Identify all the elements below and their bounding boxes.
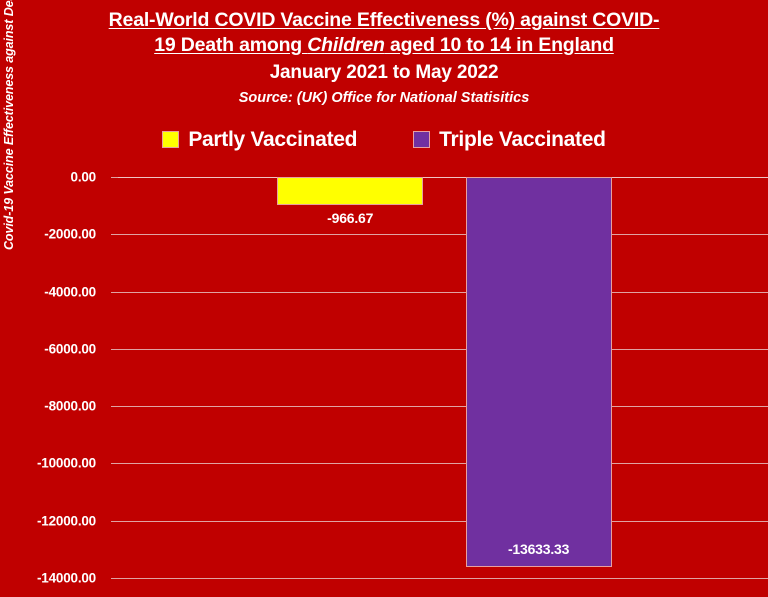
legend-swatch-icon bbox=[162, 131, 179, 148]
y-axis-tick bbox=[111, 578, 118, 579]
chart-title-line-1: Real-World COVID Vaccine Effectiveness (… bbox=[0, 8, 768, 33]
gridline bbox=[118, 349, 768, 350]
chart-title-line-2: 19 Death among Children aged 10 to 14 in… bbox=[0, 33, 768, 58]
gridline bbox=[118, 521, 768, 522]
gridline bbox=[118, 292, 768, 293]
chart-source-note: Source: (UK) Office for National Statisi… bbox=[0, 88, 768, 109]
legend-item-partly-vaccinated[interactable]: Partly Vaccinated bbox=[162, 129, 357, 150]
chart-title-line-2-prefix: 19 Death among bbox=[154, 34, 307, 56]
y-axis-tick bbox=[111, 463, 118, 464]
legend-swatch-icon bbox=[413, 131, 430, 148]
bar-value-label: -13633.33 bbox=[466, 541, 612, 557]
legend-item-triple-vaccinated[interactable]: Triple Vaccinated bbox=[413, 129, 605, 150]
legend-label-partly-vaccinated: Partly Vaccinated bbox=[188, 129, 357, 150]
y-axis-tick bbox=[111, 292, 118, 293]
y-axis-tick-label: -14000.00 bbox=[0, 571, 96, 586]
y-axis-tick-label: -4000.00 bbox=[0, 284, 96, 299]
bar-value-label: -966.67 bbox=[277, 210, 423, 226]
chart-title-line-2-suffix: aged 10 to 14 in England bbox=[385, 34, 614, 56]
chart-subtitle: January 2021 to May 2022 bbox=[0, 60, 768, 86]
chart-title-line-2-emphasis: Children bbox=[307, 34, 385, 56]
y-axis-tick bbox=[111, 349, 118, 350]
gridline bbox=[118, 234, 768, 235]
y-axis-tick-label: -2000.00 bbox=[0, 227, 96, 242]
y-axis-tick-label: 0.00 bbox=[0, 170, 96, 185]
y-axis-tick-label: -10000.00 bbox=[0, 456, 96, 471]
bar-partly-vaccinated[interactable] bbox=[277, 177, 423, 205]
y-axis-tick bbox=[111, 234, 118, 235]
y-axis-tick bbox=[111, 177, 118, 178]
legend-label-triple-vaccinated: Triple Vaccinated bbox=[439, 129, 605, 150]
chart-title-block: Real-World COVID Vaccine Effectiveness (… bbox=[0, 8, 768, 109]
y-axis-tick bbox=[111, 406, 118, 407]
gridline bbox=[118, 463, 768, 464]
gridline bbox=[118, 177, 768, 178]
y-axis-tick bbox=[111, 521, 118, 522]
bar-triple-vaccinated[interactable] bbox=[466, 177, 612, 567]
y-axis-tick-label: -6000.00 bbox=[0, 341, 96, 356]
y-axis-tick-label: -12000.00 bbox=[0, 513, 96, 528]
plot-area: 0.00-2000.00-4000.00-6000.00-8000.00-100… bbox=[118, 177, 768, 578]
y-axis-tick-label: -8000.00 bbox=[0, 399, 96, 414]
chart-container: Real-World COVID Vaccine Effectiveness (… bbox=[0, 0, 768, 597]
gridline bbox=[118, 578, 768, 579]
chart-legend: Partly Vaccinated Triple Vaccinated bbox=[0, 129, 768, 150]
gridline bbox=[118, 406, 768, 407]
